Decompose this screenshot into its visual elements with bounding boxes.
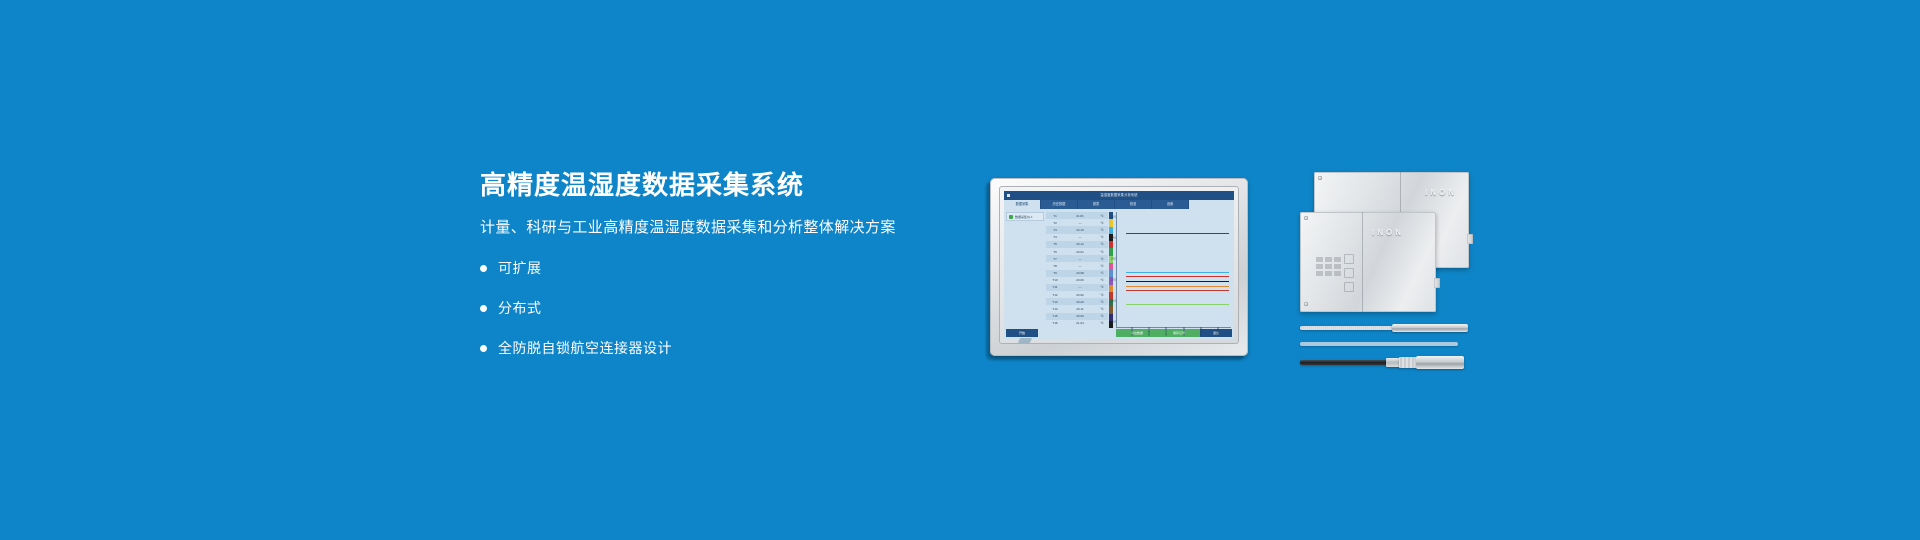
table-row[interactable]: T121.81℃ bbox=[1046, 212, 1108, 219]
list-item: 分布式 bbox=[480, 298, 950, 318]
temperature-humidity-probe bbox=[1300, 356, 1500, 368]
tab-history[interactable]: 历史数据 bbox=[1041, 200, 1078, 209]
table-row[interactable]: T1320.20℃ bbox=[1046, 298, 1108, 305]
channel-cell: T4 bbox=[1046, 235, 1064, 239]
feature-list: 可扩展 分布式 全防脱自锁航空连接器设计 bbox=[480, 258, 950, 358]
list-item: 全防脱自锁航空连接器设计 bbox=[480, 338, 950, 358]
channel-cell: T1 bbox=[1046, 214, 1064, 218]
value-cell: --- bbox=[1064, 285, 1096, 289]
channel-cell: T12 bbox=[1046, 293, 1064, 297]
bullet-dot-icon bbox=[480, 265, 487, 272]
chart-trend-line bbox=[1126, 286, 1229, 287]
monitor-inner-bezel: 温湿度数据采集分析系统 数据采集 历史数据 报表 校准 设置 bbox=[999, 186, 1239, 344]
product-banner: 高精度温湿度数据采集系统 计量、科研与工业高精度温湿度数据采集和分析整体解决方案… bbox=[0, 0, 1920, 540]
chart-y-tick: 24.0 bbox=[1111, 236, 1116, 239]
tab-calibration[interactable]: 校准 bbox=[1115, 200, 1152, 209]
screw-icon bbox=[1318, 176, 1322, 180]
probe-cable bbox=[1300, 326, 1396, 330]
app-titlebar: 温湿度数据采集分析系统 bbox=[1004, 191, 1234, 200]
chart-y-tick: 25.0 bbox=[1111, 215, 1116, 218]
feature-label: 全防脱自锁航空连接器设计 bbox=[498, 338, 672, 358]
chart-x-axis: 10:00:0010:05:0010:10:0010:15:0010:20:00… bbox=[1117, 327, 1231, 338]
table-row[interactable]: T620.01℃ bbox=[1046, 248, 1108, 255]
channel-cell: T15 bbox=[1046, 314, 1064, 318]
probe-cable-blue bbox=[1300, 342, 1500, 347]
list-item: 可扩展 bbox=[480, 258, 950, 278]
chart-trend-line bbox=[1126, 304, 1229, 305]
table-row[interactable]: T920.98℃ bbox=[1046, 270, 1108, 277]
value-cell: 21.04 bbox=[1064, 321, 1096, 325]
start-button[interactable]: 开始 bbox=[1006, 329, 1038, 337]
chart-x-tick: 10:20:00 bbox=[1200, 327, 1203, 336]
table-row[interactable]: T8---℃ bbox=[1046, 262, 1108, 269]
connector-icon bbox=[1344, 254, 1354, 264]
chart-y-tick: 21.0 bbox=[1111, 300, 1116, 303]
value-cell: 20.06 bbox=[1064, 278, 1096, 282]
chart-trend-line bbox=[1126, 281, 1229, 282]
panel-seam bbox=[1362, 212, 1363, 312]
connector-port-grid bbox=[1316, 257, 1341, 276]
table-row[interactable]: T324.19℃ bbox=[1046, 226, 1108, 233]
probe-ferrule bbox=[1386, 358, 1400, 367]
chart-trend-line bbox=[1126, 290, 1229, 291]
table-row[interactable]: T1420.11℃ bbox=[1046, 305, 1108, 312]
monitor-screen: 温湿度数据采集分析系统 数据采集 历史数据 报表 校准 设置 bbox=[1004, 191, 1234, 339]
feature-label: 分布式 bbox=[498, 298, 542, 318]
value-cell: 20.11 bbox=[1064, 307, 1096, 311]
channel-cell: T9 bbox=[1046, 271, 1064, 275]
channel-cell: T16 bbox=[1046, 321, 1064, 325]
bullet-dot-icon bbox=[480, 345, 487, 352]
tab-report[interactable]: 报表 bbox=[1078, 200, 1115, 209]
probe-cable bbox=[1300, 342, 1458, 346]
probe-coupling-nut bbox=[1399, 357, 1417, 368]
table-row[interactable]: T2---℃ bbox=[1046, 219, 1108, 226]
page-subtitle: 计量、科研与工业高精度温湿度数据采集和分析整体解决方案 bbox=[480, 218, 950, 238]
chart-trend-line bbox=[1126, 276, 1229, 277]
connector-icon bbox=[1344, 282, 1354, 292]
table-row[interactable]: T1020.06℃ bbox=[1046, 277, 1108, 284]
device-tree-label: 数据采集仪-1 bbox=[1015, 215, 1033, 219]
page-title: 高精度温湿度数据采集系统 bbox=[480, 170, 950, 200]
bullet-dot-icon bbox=[480, 305, 487, 312]
probe-sheath bbox=[1392, 324, 1468, 332]
value-cell: --- bbox=[1064, 221, 1096, 225]
tabbar-filler bbox=[1189, 200, 1234, 209]
chart-y-axis: 25.024.023.022.021.020.0 bbox=[1106, 212, 1117, 327]
screw-icon bbox=[1304, 302, 1308, 306]
chart-y-tick: 23.0 bbox=[1111, 257, 1116, 260]
trend-chart: 25.024.023.022.021.020.0 10:00:0010:05:0… bbox=[1116, 212, 1231, 328]
table-row[interactable]: T1520.90℃ bbox=[1046, 313, 1108, 320]
device-tree-node[interactable]: 数据采集仪-1 bbox=[1006, 212, 1044, 221]
banner-copy: 高精度温湿度数据采集系统 计量、科研与工业高精度温湿度数据采集和分析整体解决方案… bbox=[480, 170, 950, 358]
value-cell: 24.19 bbox=[1064, 228, 1096, 232]
industrial-panel-monitor: 温湿度数据采集分析系统 数据采集 历史数据 报表 校准 设置 bbox=[990, 178, 1248, 356]
chart-trend-line bbox=[1126, 272, 1229, 273]
chart-x-tick: 10:15:00 bbox=[1183, 327, 1186, 336]
value-cell: --- bbox=[1064, 257, 1096, 261]
connector-icon bbox=[1344, 268, 1354, 278]
chart-y-tick: 22.0 bbox=[1111, 279, 1116, 282]
channel-cell: T14 bbox=[1046, 307, 1064, 311]
channel-cell: T10 bbox=[1046, 278, 1064, 282]
channel-cell: T2 bbox=[1046, 221, 1064, 225]
value-cell: 20.20 bbox=[1064, 300, 1096, 304]
channel-cell: T11 bbox=[1046, 285, 1064, 289]
platinum-resistance-probe bbox=[1300, 324, 1500, 332]
brand-logo: INON bbox=[1372, 228, 1404, 237]
tab-data-collection[interactable]: 数据采集 bbox=[1004, 200, 1041, 209]
value-cell: 20.98 bbox=[1064, 271, 1096, 275]
value-cell: 20.90 bbox=[1064, 314, 1096, 318]
feature-label: 可扩展 bbox=[498, 258, 542, 278]
brand-logo: INON bbox=[1425, 188, 1457, 197]
channel-cell: T7 bbox=[1046, 257, 1064, 261]
device-tree: 数据采集仪-1 bbox=[1006, 212, 1044, 328]
value-cell: --- bbox=[1064, 235, 1096, 239]
channel-cell: T6 bbox=[1046, 250, 1064, 254]
app-window-title: 温湿度数据采集分析系统 bbox=[1004, 191, 1234, 200]
chart-x-tick: 10:25:00 bbox=[1217, 327, 1220, 336]
channel-cell: T5 bbox=[1046, 242, 1064, 246]
chart-x-tick: 10:00:00 bbox=[1131, 327, 1134, 336]
channel-table: T121.81℃T2---℃T324.19℃T4---℃T520.12℃T620… bbox=[1046, 212, 1108, 328]
tab-settings[interactable]: 设置 bbox=[1152, 200, 1189, 209]
channel-cell: T13 bbox=[1046, 300, 1064, 304]
value-cell: 20.01 bbox=[1064, 250, 1096, 254]
device-icon bbox=[1009, 215, 1013, 219]
app-body: 数据采集仪-1 T121.81℃T2---℃T324.19℃T4---℃T520… bbox=[1004, 209, 1234, 328]
monitor-bezel: 温湿度数据采集分析系统 数据采集 历史数据 报表 校准 设置 bbox=[990, 178, 1248, 356]
latch-tab bbox=[1434, 278, 1440, 288]
chart-trend-line bbox=[1126, 233, 1229, 234]
table-row[interactable]: T7---℃ bbox=[1046, 255, 1108, 262]
probe-cable bbox=[1300, 360, 1390, 365]
channel-cell: T8 bbox=[1046, 264, 1064, 268]
product-photo-group: INON INON bbox=[1300, 172, 1500, 362]
probe-sensor-head bbox=[1416, 356, 1464, 369]
monitor-stand-foot bbox=[1018, 338, 1032, 343]
value-cell: --- bbox=[1064, 264, 1096, 268]
value-cell: 20.12 bbox=[1064, 242, 1096, 246]
value-cell: 20.92 bbox=[1064, 293, 1096, 297]
table-row[interactable]: T4---℃ bbox=[1046, 234, 1108, 241]
screw-icon bbox=[1304, 216, 1308, 220]
table-row[interactable]: T1621.04℃ bbox=[1046, 320, 1108, 327]
latch-tab bbox=[1467, 234, 1473, 244]
table-row[interactable]: T1220.92℃ bbox=[1046, 291, 1108, 298]
value-cell: 21.81 bbox=[1064, 214, 1096, 218]
chart-x-tick: 10:05:00 bbox=[1148, 327, 1151, 336]
table-row[interactable]: T520.12℃ bbox=[1046, 241, 1108, 248]
data-logger-front-unit: INON bbox=[1300, 212, 1436, 312]
channel-cell: T3 bbox=[1046, 228, 1064, 232]
chart-x-tick: 10:10:00 bbox=[1165, 327, 1168, 336]
chart-y-tick: 20.0 bbox=[1111, 321, 1116, 324]
table-row[interactable]: T11---℃ bbox=[1046, 284, 1108, 291]
app-tabbar: 数据采集 历史数据 报表 校准 设置 bbox=[1004, 200, 1234, 209]
